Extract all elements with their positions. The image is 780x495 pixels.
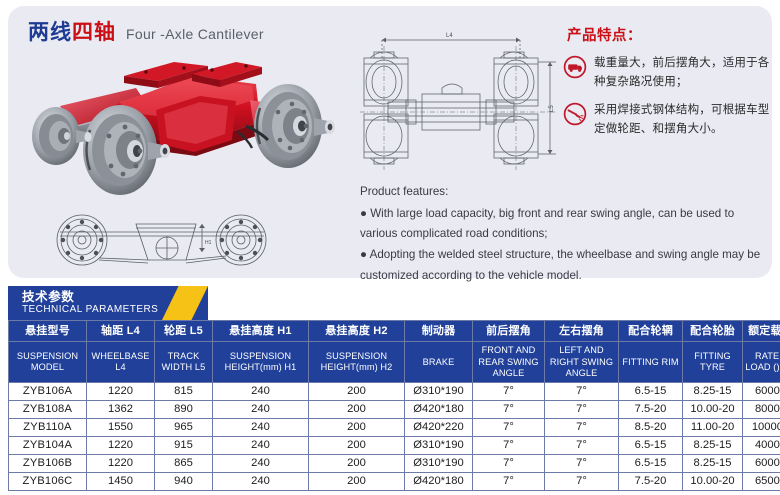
- table-row: ZYB110A 1550 965 240 200 Ø420*220 7° 7° …: [9, 418, 780, 436]
- cell-lr-swing: 7°: [545, 382, 619, 400]
- header-en-model: SUSPENSION MODEL: [9, 342, 87, 383]
- truck-icon: [563, 55, 587, 79]
- product-photo: [24, 48, 354, 198]
- top-view-drawing: L4 L5: [360, 18, 565, 186]
- cell-wheelbase: 1362: [87, 400, 155, 418]
- cell-track: 890: [155, 400, 213, 418]
- feature-text-welded-structure: 采用焊接式钢体结构，可根据车型定做轮距、和摆角大小。: [594, 101, 775, 138]
- cell-brake: Ø420*180: [405, 472, 473, 490]
- table-head: 悬挂型号 轴距 L4 轮距 L5 悬挂高度 H1 悬挂高度 H2 制动器 前后摆…: [9, 321, 780, 383]
- header-cn-height-h2: 悬挂高度 H2: [309, 321, 405, 342]
- header-en-tyre: FITTING TYRE: [683, 342, 743, 383]
- header-en-lr-swing: LEFT AND RIGHT SWING ANGLE: [545, 342, 619, 383]
- feature-item-load-capacity: 载重量大，前后摆角大，适用于各种复杂路况使用；: [563, 54, 775, 91]
- cell-rim: 7.5-20: [619, 400, 683, 418]
- feature-text-load-capacity: 载重量大，前后摆角大，适用于各种复杂路况使用；: [594, 54, 775, 91]
- technical-parameters-banner: 技术参数 TECHNICAL PARAMETERS: [8, 286, 208, 320]
- cell-tyre: 8.25-15: [683, 436, 743, 454]
- cell-rated-load: 60000: [743, 454, 780, 472]
- cell-height-h1: 240: [213, 472, 309, 490]
- cell-rim: 6.5-15: [619, 382, 683, 400]
- table-row: ZYB108A 1362 890 240 200 Ø420*180 7° 7° …: [9, 400, 780, 418]
- cell-height-h2: 200: [309, 454, 405, 472]
- cell-lr-swing: 7°: [545, 418, 619, 436]
- banner-title-english: TECHNICAL PARAMETERS: [22, 304, 158, 317]
- cell-height-h1: 240: [213, 454, 309, 472]
- header-en-wheelbase: WHEELBASE L4: [87, 342, 155, 383]
- title-chinese-red: 四轴: [72, 21, 116, 44]
- cell-brake: Ø310*190: [405, 454, 473, 472]
- title-chinese: 两线四轴: [28, 16, 116, 46]
- cell-rim: 8.5-20: [619, 418, 683, 436]
- header-cn-fr-swing: 前后摆角: [473, 321, 545, 342]
- cell-model: ZYB110A: [9, 418, 87, 436]
- cell-wheelbase: 1220: [87, 436, 155, 454]
- table-row: ZYB106C 1450 940 240 200 Ø420*180 7° 7° …: [9, 472, 780, 490]
- table-row: ZYB106A 1220 815 240 200 Ø310*190 7° 7° …: [9, 382, 780, 400]
- header-cn-tyre: 配合轮胎: [683, 321, 743, 342]
- cell-brake: Ø420*180: [405, 400, 473, 418]
- cell-fr-swing: 7°: [473, 472, 545, 490]
- product-features-english: Product features: ● With large load capa…: [360, 182, 774, 286]
- header-en-track: TRACK WIDTH L5: [155, 342, 213, 383]
- spec-table-wrapper: 悬挂型号 轴距 L4 轮距 L5 悬挂高度 H1 悬挂高度 H2 制动器 前后摆…: [8, 320, 772, 491]
- cell-rated-load: 80000: [743, 400, 780, 418]
- title-english: Four -Axle Cantilever: [126, 26, 264, 42]
- top-view-l5-label: L5: [549, 105, 555, 112]
- cell-fr-swing: 7°: [473, 436, 545, 454]
- cell-track: 915: [155, 436, 213, 454]
- header-cn-model: 悬挂型号: [9, 321, 87, 342]
- features-english-lead: Product features:: [360, 182, 774, 203]
- cell-fr-swing: 7°: [473, 400, 545, 418]
- cell-height-h2: 200: [309, 382, 405, 400]
- side-view-svg: H1: [36, 202, 286, 278]
- header-row-chinese: 悬挂型号 轴距 L4 轮距 L5 悬挂高度 H1 悬挂高度 H2 制动器 前后摆…: [9, 321, 780, 342]
- product-photo-illustration: [24, 48, 354, 198]
- cell-height-h2: 200: [309, 472, 405, 490]
- cell-rated-load: 40000: [743, 436, 780, 454]
- cell-lr-swing: 7°: [545, 454, 619, 472]
- cell-fr-swing: 7°: [473, 418, 545, 436]
- cell-rated-load: 100000: [743, 418, 780, 436]
- cell-brake: Ø310*190: [405, 382, 473, 400]
- side-view-drawing: H1: [36, 202, 286, 278]
- cell-tyre: 11.00-20: [683, 418, 743, 436]
- header-en-fr-swing: FRONT AND REAR SWING ANGLE: [473, 342, 545, 383]
- header-cn-brake: 制动器: [405, 321, 473, 342]
- header-en-rated-load: RATED LOAD () KG: [743, 342, 780, 383]
- features-english-item-1: ● With large load capacity, big front an…: [360, 204, 774, 245]
- cell-rated-load: 65000: [743, 472, 780, 490]
- cell-height-h1: 240: [213, 382, 309, 400]
- header-en-rim: FITTING RIM: [619, 342, 683, 383]
- cell-rim: 6.5-15: [619, 454, 683, 472]
- header-en-height-h1: SUSPENSION HEIGHT(mm) H1: [213, 342, 309, 383]
- cell-height-h1: 240: [213, 400, 309, 418]
- features-english-item-2: ● Adopting the welded steel structure, t…: [360, 245, 774, 286]
- cell-track: 815: [155, 382, 213, 400]
- header-row-english: SUSPENSION MODEL WHEELBASE L4 TRACK WIDT…: [9, 342, 780, 383]
- cell-brake: Ø310*190: [405, 436, 473, 454]
- cell-model: ZYB106C: [9, 472, 87, 490]
- cell-fr-swing: 7°: [473, 454, 545, 472]
- cell-model: ZYB108A: [9, 400, 87, 418]
- cell-height-h2: 200: [309, 418, 405, 436]
- side-view-h1-label: H1: [205, 240, 212, 246]
- title-chinese-blue: 两线: [28, 21, 72, 44]
- cell-tyre: 8.25-15: [683, 382, 743, 400]
- welding-torch-icon: [563, 102, 587, 126]
- header-cn-height-h1: 悬挂高度 H1: [213, 321, 309, 342]
- page-title: 两线四轴 Four -Axle Cantilever: [28, 16, 264, 46]
- cell-rim: 6.5-15: [619, 436, 683, 454]
- product-features-chinese: 产品特点： 载重量大，前后摆角大，适用于各种复杂路况使用；: [563, 24, 775, 149]
- cell-brake: Ø420*220: [405, 418, 473, 436]
- cell-track: 965: [155, 418, 213, 436]
- banner-title-chinese: 技术参数: [22, 290, 158, 304]
- top-view-l4-label: L4: [446, 33, 453, 39]
- cell-model: ZYB106A: [9, 382, 87, 400]
- cell-wheelbase: 1220: [87, 382, 155, 400]
- cell-fr-swing: 7°: [473, 382, 545, 400]
- header-cn-rated-load: 额定载荷: [743, 321, 780, 342]
- banner-text: 技术参数 TECHNICAL PARAMETERS: [22, 290, 158, 317]
- cell-height-h1: 240: [213, 436, 309, 454]
- header-cn-rim: 配合轮辋: [619, 321, 683, 342]
- header-cn-lr-swing: 左右摆角: [545, 321, 619, 342]
- feature-item-welded-structure: 采用焊接式钢体结构，可根据车型定做轮距、和摆角大小。: [563, 101, 775, 138]
- top-view-svg: L4 L5: [360, 18, 565, 186]
- cell-lr-swing: 7°: [545, 472, 619, 490]
- cell-tyre: 10.00-20: [683, 472, 743, 490]
- cell-height-h1: 240: [213, 418, 309, 436]
- header-en-brake: BRAKE: [405, 342, 473, 383]
- cell-wheelbase: 1220: [87, 454, 155, 472]
- table-row: ZYB106B 1220 865 240 200 Ø310*190 7° 7° …: [9, 454, 780, 472]
- cell-height-h2: 200: [309, 436, 405, 454]
- cell-model: ZYB106B: [9, 454, 87, 472]
- header-en-height-h2: SUSPENSION HEIGHT(mm) H2: [309, 342, 405, 383]
- cell-lr-swing: 7°: [545, 400, 619, 418]
- hero-card: 两线四轴 Four -Axle Cantilever: [8, 6, 772, 278]
- header-cn-track: 轮距 L5: [155, 321, 213, 342]
- table-body: ZYB106A 1220 815 240 200 Ø310*190 7° 7° …: [9, 382, 780, 490]
- cell-track: 940: [155, 472, 213, 490]
- cell-wheelbase: 1550: [87, 418, 155, 436]
- product-spec-sheet: 两线四轴 Four -Axle Cantilever: [0, 0, 780, 495]
- cell-height-h2: 200: [309, 400, 405, 418]
- technical-parameters-table: 悬挂型号 轴距 L4 轮距 L5 悬挂高度 H1 悬挂高度 H2 制动器 前后摆…: [8, 320, 780, 491]
- cell-rated-load: 60000: [743, 382, 780, 400]
- cell-track: 865: [155, 454, 213, 472]
- cell-wheelbase: 1450: [87, 472, 155, 490]
- table-row: ZYB104A 1220 915 240 200 Ø310*190 7° 7° …: [9, 436, 780, 454]
- cell-model: ZYB104A: [9, 436, 87, 454]
- cell-tyre: 8.25-15: [683, 454, 743, 472]
- cell-tyre: 10.00-20: [683, 400, 743, 418]
- header-cn-wheelbase: 轴距 L4: [87, 321, 155, 342]
- cell-lr-swing: 7°: [545, 436, 619, 454]
- cell-rim: 7.5-20: [619, 472, 683, 490]
- features-chinese-title: 产品特点：: [563, 24, 775, 45]
